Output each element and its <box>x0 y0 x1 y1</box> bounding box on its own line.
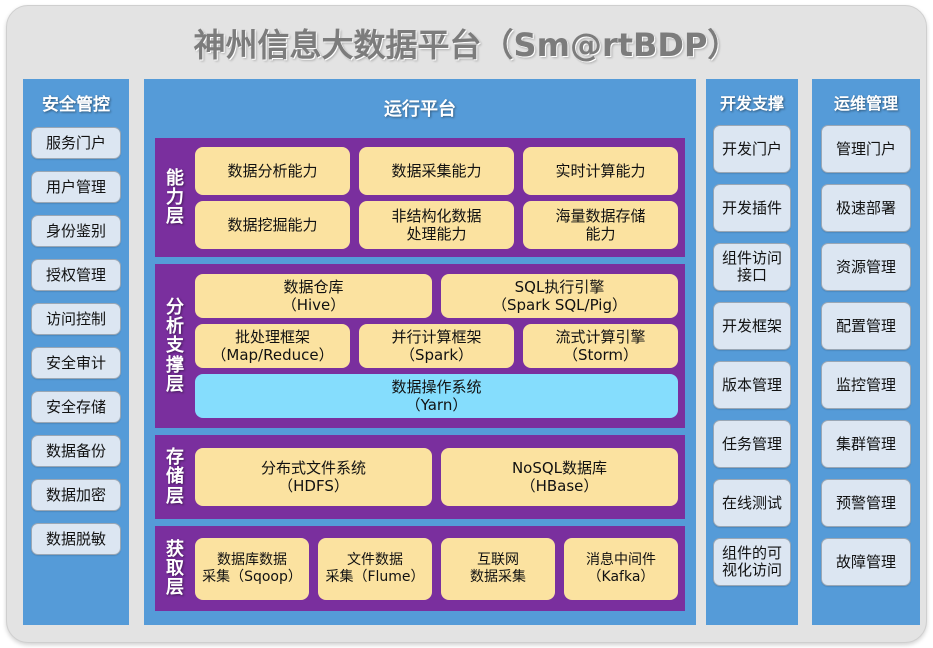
layer-label-storage: 存储层 <box>155 435 195 519</box>
layer-label-capability: 能力层 <box>155 138 195 257</box>
dev-item-1[interactable]: 开发门户 <box>713 125 791 173</box>
ops-item-6[interactable]: 集群管理 <box>821 420 911 468</box>
layer-body-capability: 数据分析能力数据采集能力实时计算能力数据挖掘能力非结构化数据处理能力海量数据存储… <box>195 138 685 257</box>
layer-row: 批处理框架（Map/Reduce）并行计算框架（Spark）流式计算引擎（Sto… <box>195 324 678 368</box>
security-item-10[interactable]: 数据脱敏 <box>31 523 121 555</box>
component-box[interactable]: 并行计算框架（Spark） <box>359 324 514 368</box>
ops-item-3[interactable]: 资源管理 <box>821 243 911 291</box>
dev-item-3[interactable]: 组件访问接口 <box>713 243 791 291</box>
security-item-8[interactable]: 数据备份 <box>31 435 121 467</box>
platform-panel: 运行平台 能力层数据分析能力数据采集能力实时计算能力数据挖掘能力非结构化数据处理… <box>144 79 696 625</box>
ops-item-1[interactable]: 管理门户 <box>821 125 911 173</box>
security-item-9[interactable]: 数据加密 <box>31 479 121 511</box>
security-column: 安全管控 服务门户用户管理身份鉴别授权管理访问控制安全审计安全存储数据备份数据加… <box>23 79 129 625</box>
component-box[interactable]: 数据采集能力 <box>359 147 514 195</box>
ops-column-header: 运维管理 <box>834 90 898 114</box>
security-item-7[interactable]: 安全存储 <box>31 391 121 423</box>
ops-column: 运维管理 管理门户极速部署资源管理配置管理监控管理集群管理预警管理故障管理 <box>812 79 920 625</box>
layer-row: 数据挖掘能力非结构化数据处理能力海量数据存储能力 <box>195 201 678 249</box>
component-box[interactable]: 数据库数据采集（Sqoop） <box>195 538 309 600</box>
ops-item-2[interactable]: 极速部署 <box>821 184 911 232</box>
page-title: 神州信息大数据平台（Sm@rtBDP） <box>7 20 926 66</box>
layer-capability: 能力层数据分析能力数据采集能力实时计算能力数据挖掘能力非结构化数据处理能力海量数… <box>155 138 685 257</box>
layer-body-acquisition: 数据库数据采集（Sqoop）文件数据采集（Flume）互联网数据采集消息中间件（… <box>195 526 685 611</box>
layer-row: 数据仓库（Hive）SQL执行引擎（Spark SQL/Pig） <box>195 274 678 318</box>
security-column-items: 服务门户用户管理身份鉴别授权管理访问控制安全审计安全存储数据备份数据加密数据脱敏 <box>31 115 121 555</box>
component-box[interactable]: 数据分析能力 <box>195 147 350 195</box>
dev-support-column-header: 开发支撑 <box>720 90 784 114</box>
component-box[interactable]: 互联网数据采集 <box>441 538 555 600</box>
component-box[interactable]: 文件数据采集（Flume） <box>318 538 432 600</box>
dev-support-column-items: 开发门户开发插件组件访问接口开发框架版本管理任务管理在线测试组件的可视化访问 <box>713 114 791 586</box>
layer-storage: 存储层分布式文件系统（HDFS）NoSQL数据库（HBase） <box>155 435 685 519</box>
security-item-4[interactable]: 授权管理 <box>31 259 121 291</box>
component-box[interactable]: 批处理框架（Map/Reduce） <box>195 324 350 368</box>
component-box[interactable]: 流式计算引擎（Storm） <box>523 324 678 368</box>
component-box[interactable]: 分布式文件系统（HDFS） <box>195 448 432 506</box>
security-item-1[interactable]: 服务门户 <box>31 127 121 159</box>
component-box[interactable]: 数据挖掘能力 <box>195 201 350 249</box>
dev-item-2[interactable]: 开发插件 <box>713 184 791 232</box>
dev-item-6[interactable]: 任务管理 <box>713 420 791 468</box>
layer-label-analysis: 分析支撑层 <box>155 264 195 428</box>
security-item-3[interactable]: 身份鉴别 <box>31 215 121 247</box>
component-box[interactable]: 数据操作系统（Yarn） <box>195 374 678 418</box>
component-box[interactable]: NoSQL数据库（HBase） <box>441 448 678 506</box>
security-item-5[interactable]: 访问控制 <box>31 303 121 335</box>
layer-row: 数据操作系统（Yarn） <box>195 374 678 418</box>
layer-label-acquisition: 获取层 <box>155 526 195 611</box>
ops-column-items: 管理门户极速部署资源管理配置管理监控管理集群管理预警管理故障管理 <box>821 114 911 586</box>
layer-acquisition: 获取层数据库数据采集（Sqoop）文件数据采集（Flume）互联网数据采集消息中… <box>155 526 685 611</box>
component-box[interactable]: 海量数据存储能力 <box>523 201 678 249</box>
layer-body-analysis: 数据仓库（Hive）SQL执行引擎（Spark SQL/Pig）批处理框架（Ma… <box>195 264 685 428</box>
layer-body-storage: 分布式文件系统（HDFS）NoSQL数据库（HBase） <box>195 435 685 519</box>
component-box[interactable]: 非结构化数据处理能力 <box>359 201 514 249</box>
ops-item-8[interactable]: 故障管理 <box>821 538 911 586</box>
dev-item-8[interactable]: 组件的可视化访问 <box>713 538 791 586</box>
ops-item-7[interactable]: 预警管理 <box>821 479 911 527</box>
platform-header: 运行平台 <box>144 79 696 121</box>
component-box[interactable]: 数据仓库（Hive） <box>195 274 432 318</box>
layer-row: 分布式文件系统（HDFS）NoSQL数据库（HBase） <box>195 448 678 506</box>
component-box[interactable]: 实时计算能力 <box>523 147 678 195</box>
dev-item-7[interactable]: 在线测试 <box>713 479 791 527</box>
dev-item-4[interactable]: 开发框架 <box>713 302 791 350</box>
diagram-frame: 神州信息大数据平台（Sm@rtBDP） 安全管控 服务门户用户管理身份鉴别授权管… <box>6 5 927 643</box>
layer-row: 数据库数据采集（Sqoop）文件数据采集（Flume）互联网数据采集消息中间件（… <box>195 538 678 600</box>
layer-row: 数据分析能力数据采集能力实时计算能力 <box>195 147 678 195</box>
ops-item-4[interactable]: 配置管理 <box>821 302 911 350</box>
security-item-6[interactable]: 安全审计 <box>31 347 121 379</box>
dev-item-5[interactable]: 版本管理 <box>713 361 791 409</box>
component-box[interactable]: SQL执行引擎（Spark SQL/Pig） <box>441 274 678 318</box>
ops-item-5[interactable]: 监控管理 <box>821 361 911 409</box>
dev-support-column: 开发支撑 开发门户开发插件组件访问接口开发框架版本管理任务管理在线测试组件的可视… <box>706 79 798 625</box>
component-box[interactable]: 消息中间件（Kafka） <box>564 538 678 600</box>
security-column-header: 安全管控 <box>42 90 110 115</box>
layer-analysis-support: 分析支撑层数据仓库（Hive）SQL执行引擎（Spark SQL/Pig）批处理… <box>155 264 685 428</box>
security-item-2[interactable]: 用户管理 <box>31 171 121 203</box>
